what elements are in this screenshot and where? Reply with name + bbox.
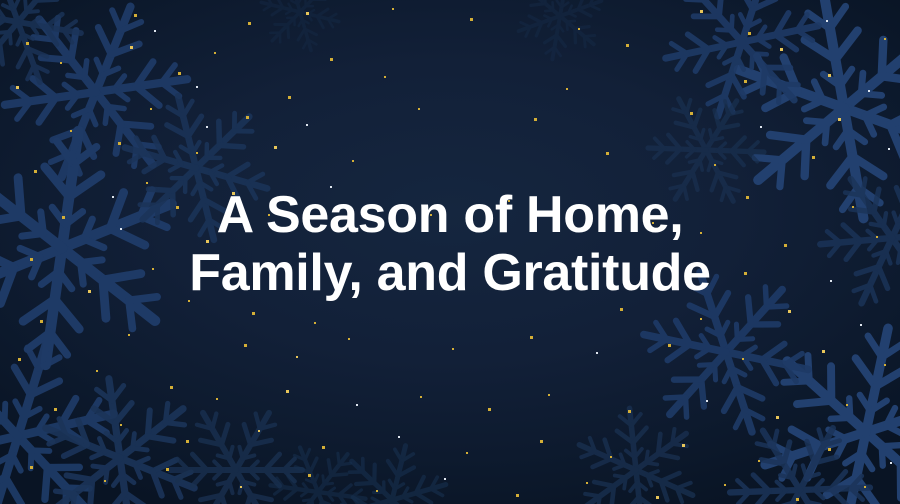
holiday-banner: A Season of Home, Family, and Gratitude [0,0,900,504]
confetti-dot [240,486,242,488]
confetti-dot [470,18,473,21]
confetti-dot [838,118,841,121]
confetti-dot [62,216,65,219]
confetti-dot [628,410,631,413]
confetti-dot [706,400,708,402]
confetti-dot [884,364,886,366]
confetti-dot [852,206,854,208]
confetti-dot [534,118,537,121]
confetti-dot [206,126,208,128]
confetti-dot [196,86,198,88]
confetti-dot [626,44,629,47]
confetti-dot [152,268,154,270]
confetti-dot [578,28,580,30]
confetti-dot [776,416,779,419]
confetti-dot [176,206,179,209]
confetti-dot [444,478,446,480]
confetti-dot [314,322,316,324]
confetti-dot [548,394,550,396]
confetti-dot [30,258,33,261]
confetti-dot [330,58,333,61]
confetti-dot [16,86,19,89]
confetti-dot [286,390,289,393]
confetti-dot [376,490,378,492]
confetti-dot [508,200,510,202]
confetti-dot [166,468,169,471]
confetti-dot [652,222,654,224]
confetti-dot [742,358,744,360]
confetti-dot [216,398,218,400]
confetti-dot [516,494,519,497]
confetti-dot [244,344,247,347]
confetti-dot [876,236,878,238]
confetti-dot [714,164,716,166]
confetti-dot [120,228,122,230]
confetti-dot [352,160,354,162]
confetti-dot [322,446,325,449]
confetti-dot [888,148,890,150]
confetti-dot [112,196,114,198]
confetti-dot [348,338,350,340]
confetti-dot [780,48,783,51]
confetti-dot [724,484,726,486]
confetti-dot [830,280,832,282]
confetti-dot [884,38,886,40]
confetti-dot [120,424,122,426]
confetti-dot [54,408,57,411]
confetti-dot [700,232,702,234]
confetti-dot [586,482,588,484]
confetti-dot [466,452,468,454]
confetti-dot [682,444,685,447]
confetti-dot [846,404,848,406]
confetti-dot [788,310,791,313]
confetti-dot [540,440,543,443]
confetti-dot [452,348,454,350]
confetti-dot [30,466,33,469]
confetti-dot [606,152,609,155]
confetti-dot [252,312,255,315]
confetti-dot [196,152,198,154]
confetti-dot [232,192,235,195]
confetti-dot [258,430,260,432]
confetti-dot [296,356,298,358]
confetti-dot [610,456,612,458]
confetti-dot [170,386,173,389]
confetti-dot [398,436,400,438]
confetti-dot [356,404,358,406]
confetti-dot [890,462,892,464]
confetti-dot [214,52,216,54]
confetti-dot [828,74,831,77]
confetti-dot [530,336,533,339]
confetti-dot [864,486,866,488]
confetti-dot [384,76,386,78]
confetti-dot [40,320,43,323]
confetti-dot [146,182,148,184]
confetti-dot [690,112,693,115]
confetti-dot [596,352,598,354]
confetti-dot [828,448,831,451]
confetti-dot [206,240,209,243]
confetti-dot [306,12,309,15]
confetti-dot [34,170,37,173]
confetti-dot [620,308,623,311]
confetti-dot [150,108,152,110]
confetti-dot [700,10,703,13]
confetti-dot [248,22,251,25]
confetti-dot [566,88,568,90]
confetti-dot [70,130,72,132]
confetti-dot [744,80,747,83]
confetti-dot [744,272,747,275]
confetti-dot [758,460,760,462]
confetti-dot [96,370,98,372]
confetti-dot [656,496,659,499]
confetti-dot [118,142,121,145]
confetti-dot [826,20,828,22]
confetti-dot [288,96,291,99]
confetti-dot [134,14,137,17]
confetti-dot [268,214,270,216]
confetti-dot [88,290,91,293]
confetti-dot [760,126,762,128]
confetti-dot [668,344,671,347]
confetti-dot [796,498,799,501]
confetti-dot [748,32,751,35]
confetti-dot [186,440,189,443]
confetti-dot [18,358,21,361]
confetti-dot [430,214,432,216]
confetti-dot [130,46,133,49]
confetti-dot [154,30,156,32]
confetti-dot [784,244,787,247]
confetti-dot [128,334,130,336]
confetti-dot [392,8,394,10]
confetti-dot [860,324,862,326]
confetti-dot [188,300,190,302]
confetti-dot [246,116,249,119]
confetti-dot [330,186,332,188]
confetti-dot [308,474,311,477]
confetti-dot [178,72,181,75]
confetti-dot [812,156,815,159]
confetti-dot [104,480,106,482]
confetti-dot [746,196,749,199]
confetti-dot [822,350,825,353]
confetti-dot [700,318,702,320]
confetti-dot [868,90,870,92]
confetti-dot [306,124,308,126]
confetti-dot [26,42,29,45]
confetti-dot [274,146,277,149]
confetti-dot [60,62,62,64]
confetti-dot [420,396,422,398]
confetti-dot [418,108,420,110]
confetti-decoration-layer [0,0,900,504]
confetti-dot [488,408,491,411]
